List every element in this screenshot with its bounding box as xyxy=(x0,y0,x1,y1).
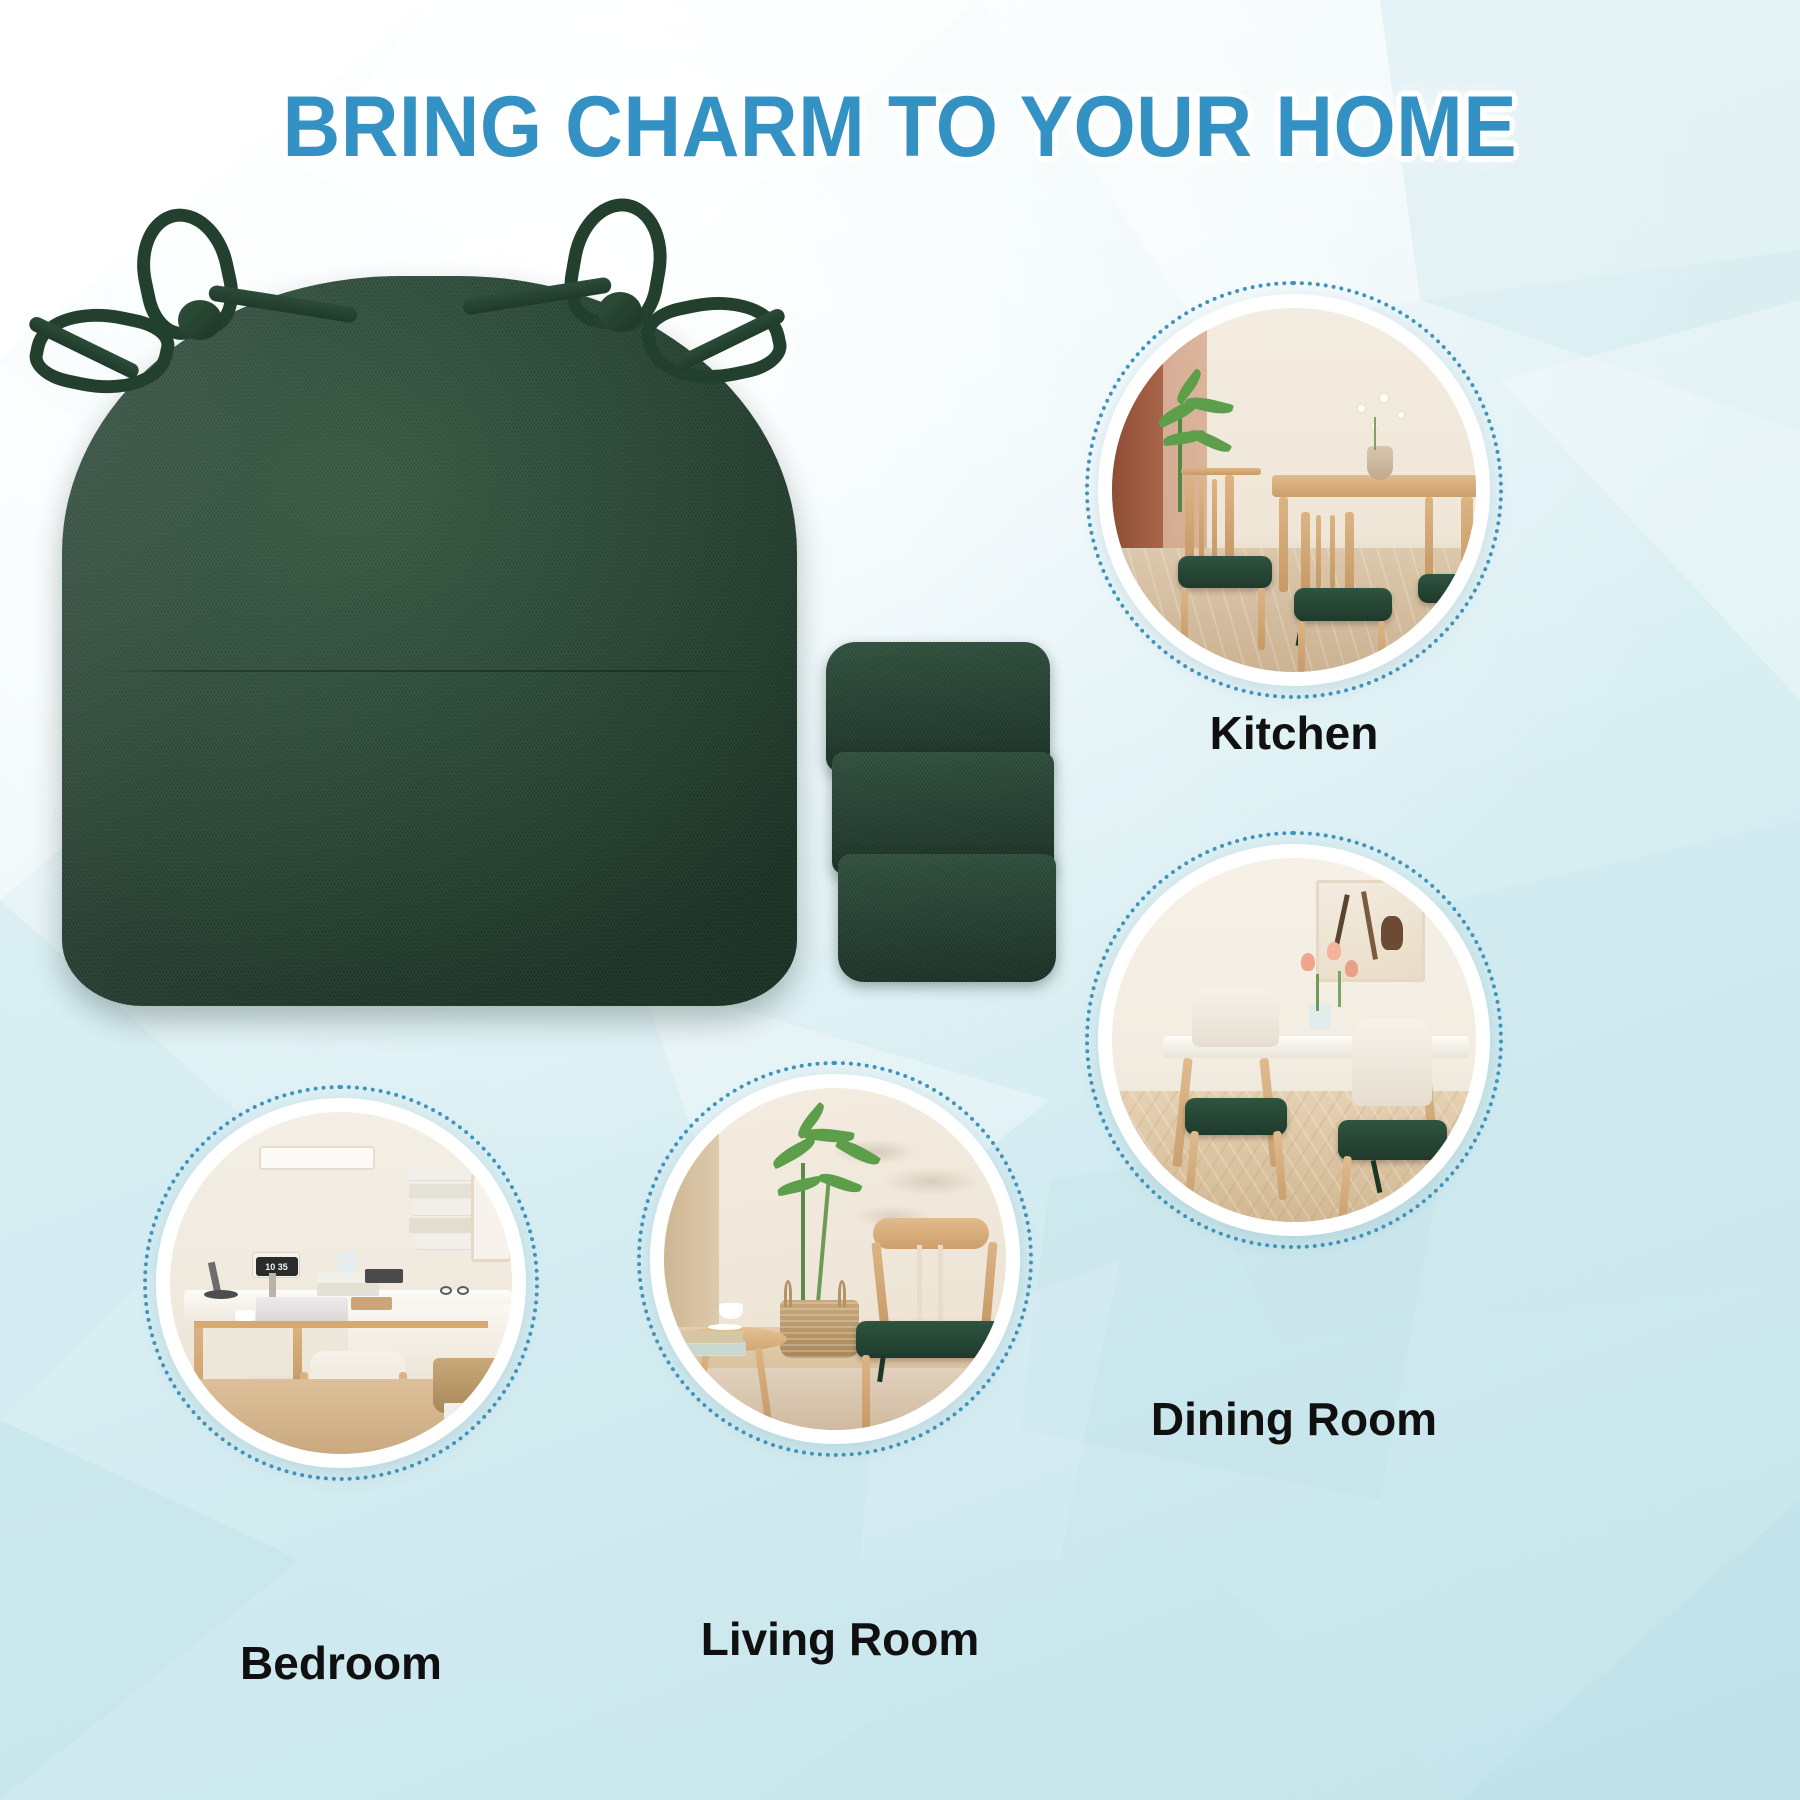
scene-photo-dining-room xyxy=(1112,858,1476,1222)
flip-clock-display: 10 35 xyxy=(256,1257,298,1276)
scene-photo-living-room xyxy=(664,1088,1006,1430)
scene-circle-bedroom[interactable]: 10 35 xyxy=(156,1098,526,1468)
tie-bow-right xyxy=(448,192,788,412)
tie-bow-left xyxy=(20,200,350,420)
scene-label-kitchen: Kitchen xyxy=(1098,706,1490,760)
scene-label-living-room: Living Room xyxy=(640,1612,1040,1666)
headline-container: BRING CHARM TO YOUR HOME xyxy=(0,78,1800,177)
scene-circle-dining-room[interactable] xyxy=(1098,844,1490,1236)
page-title: BRING CHARM TO YOUR HOME xyxy=(283,78,1518,177)
scene-photo-bedroom: 10 35 xyxy=(170,1112,512,1454)
scene-photo-kitchen xyxy=(1112,308,1476,672)
product-hero xyxy=(0,190,1060,1200)
scene-circle-living-room[interactable] xyxy=(650,1074,1020,1444)
scene-circle-kitchen[interactable] xyxy=(1098,294,1490,686)
scene-label-dining-room: Dining Room xyxy=(1078,1392,1510,1446)
cushion-stack-item-3 xyxy=(838,854,1056,982)
scene-label-bedroom: Bedroom xyxy=(141,1636,541,1690)
